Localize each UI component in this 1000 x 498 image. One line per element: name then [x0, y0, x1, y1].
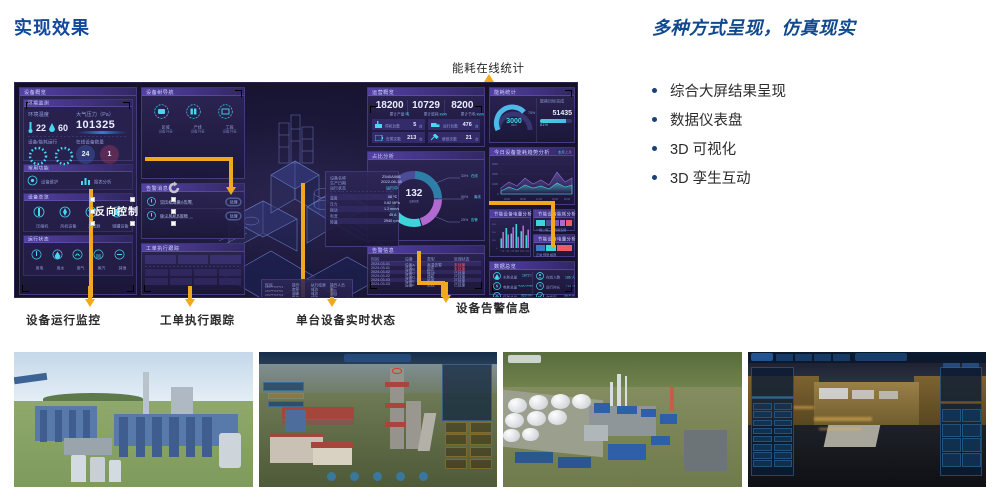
info-card[interactable] [268, 393, 304, 400]
list-item-label: 综合大屏结果呈现 [670, 80, 786, 101]
svg-text:300: 300 [492, 224, 496, 226]
tower-band [385, 403, 409, 408]
nav-tab[interactable] [795, 354, 812, 361]
feature-list: 综合大屏结果呈现 数据仪表盘 3D 可视化 3D 孪生互动 [652, 76, 786, 192]
viewer-toolbar[interactable] [508, 355, 541, 363]
panel-energy-gauge[interactable]: 能耗统计 75% 3000 kW·h [489, 87, 575, 143]
info-card[interactable] [268, 401, 304, 408]
fan-icon [59, 206, 71, 218]
callout-label-realtime-status: 单台设备实时状态 [296, 312, 396, 328]
list-item-label: 数据仪表盘 [670, 109, 743, 130]
clock-icon [536, 282, 544, 290]
window [819, 388, 848, 399]
target-pct: 81% [540, 123, 578, 128]
svg-text:33%: 33% [461, 174, 469, 178]
warning-icon [147, 211, 156, 220]
stat-tile[interactable] [470, 434, 493, 445]
nav-icon[interactable] [419, 472, 428, 481]
svg-text:200: 200 [492, 232, 496, 234]
overview-row[interactable]: 在岗人数186 人 [536, 272, 571, 280]
page-title-bar [855, 353, 907, 361]
kpi-tile[interactable]: 运行台数 476 台 [428, 119, 481, 130]
svg-text:四月: 四月 [515, 249, 519, 253]
svg-text:1000: 1000 [492, 182, 498, 186]
panel-header: 工单执行跟踪 [142, 244, 244, 252]
svg-text:一月: 一月 [500, 249, 504, 253]
pressure-value: 101325 [76, 119, 128, 131]
selection-handle[interactable] [90, 197, 95, 202]
list-item-label: 3D 可视化 [670, 138, 736, 159]
stat-tile[interactable] [445, 434, 468, 445]
svg-text:2000: 2000 [492, 172, 498, 176]
folder-icon [154, 104, 169, 119]
panel-header: 设备树导航 [142, 88, 244, 96]
stat-tile[interactable] [445, 447, 468, 458]
selection-handle[interactable] [171, 221, 176, 226]
info-card[interactable] [263, 382, 304, 391]
column [119, 417, 129, 458]
panel-header: 能耗统计 [490, 88, 574, 96]
image-gallery [14, 352, 986, 487]
svg-text:六月: 六月 [525, 249, 529, 253]
gallery-image-digital-twin-plant[interactable] [259, 352, 498, 487]
list-item: 综合大屏结果呈现 [652, 76, 786, 105]
right-panel-map[interactable] [940, 367, 983, 402]
right-panel[interactable] [442, 364, 492, 421]
status-tile[interactable]: 用气 [72, 247, 83, 269]
nav-tab[interactable] [814, 354, 831, 361]
panel-header: 节能设备电量分析 [490, 210, 530, 218]
truck-icon [431, 121, 440, 128]
column [186, 417, 196, 458]
panel-energy-bar[interactable]: 节能设备电量分析 300 200 100 0 [489, 209, 531, 257]
svg-text:0: 0 [496, 248, 498, 250]
stat-tile[interactable] [470, 459, 493, 470]
svg-text:离线: 离线 [474, 194, 481, 199]
grid-icon [186, 104, 201, 119]
warehouse [64, 438, 112, 454]
overview-row[interactable]: 水耗总量1872 t [493, 272, 528, 280]
nav-tab[interactable] [833, 354, 850, 361]
function-item[interactable]: 设备维护 [27, 175, 76, 186]
selection-handle[interactable] [90, 221, 95, 226]
dashed-gauge-icon [54, 146, 74, 166]
callout-label-order-tracking: 工单执行跟踪 [160, 312, 235, 328]
column [40, 410, 47, 442]
preheater-tower [390, 368, 404, 449]
kpi-tile[interactable]: 停机台数 5 台 [372, 119, 425, 130]
panel-device-detail[interactable]: 设备名称Z540A066 生产日期2022-06-18 运行状态运行中 温度68… [325, 171, 399, 247]
window [852, 390, 873, 399]
rotate-handle-icon[interactable] [167, 181, 181, 200]
summary-value: 18200 [372, 100, 407, 111]
device-tile[interactable]: 压缩机 [33, 205, 45, 227]
warning-icon [147, 197, 156, 206]
water-icon [52, 249, 63, 260]
panel-header: 运行状态 [24, 236, 132, 243]
svg-text:50%: 50% [461, 195, 469, 199]
nav-tab[interactable] [776, 354, 793, 361]
gallery-image-3d-twin-interior[interactable] [748, 352, 987, 487]
callout-label-equipment-monitor: 设备运行监控 [26, 312, 101, 328]
gas-icon [72, 249, 83, 260]
selection-handle[interactable] [130, 221, 135, 226]
filter-button[interactable] [962, 363, 979, 368]
panel-alarm-table[interactable]: 告警信息 时间 设备 类型 处理状态 2024-03-01 设备A 高温告警 未… [367, 245, 485, 295]
svg-text:告警: 告警 [471, 217, 478, 222]
panel-header: 环境监测 [24, 100, 132, 107]
tower-band [385, 422, 409, 427]
tank [219, 433, 240, 468]
section-title-right: 多种方式呈现，仿真现实 [652, 14, 856, 40]
overview-row[interactable]: 合格率98.4 % [536, 292, 571, 298]
area-chart: 3000 2000 1000 0 [492, 158, 574, 202]
wrench-icon [431, 134, 439, 141]
svg-text:在线: 在线 [471, 173, 478, 178]
gauge-value: 3000 [498, 118, 530, 125]
dashboard-canvas: 设备概览 环境监测 环境温度 [14, 82, 578, 298]
valve-icon [33, 206, 45, 218]
nav-icon[interactable] [350, 472, 359, 481]
factory-icon [375, 121, 382, 128]
tank [71, 455, 85, 482]
panel-operation-summary[interactable]: 运营概览 18200 累计产量 吨 10729 累计能耗 kWh [367, 87, 485, 147]
donut-center-value: 132 [393, 188, 435, 199]
bullet-dot-icon [652, 175, 657, 180]
summary-value: 10729 [408, 100, 443, 111]
svg-text:三月: 三月 [510, 249, 514, 253]
roof [270, 433, 322, 437]
status-tile[interactable]: 其他 [114, 247, 125, 269]
bullet-dot-icon [652, 88, 657, 93]
battery-icon [375, 135, 383, 141]
power-icon [31, 249, 42, 260]
svg-text:3000: 3000 [492, 162, 498, 166]
alarm-action-button[interactable]: 处理 [225, 197, 242, 206]
list-item: 数据仪表盘 [652, 105, 786, 134]
count-badge: 1 [100, 145, 119, 164]
tank [90, 457, 104, 481]
status-tile[interactable]: 用水 [52, 247, 63, 269]
tree-tile[interactable]: 工段 设备列表 [218, 104, 233, 132]
callout-label-reverse-control: 反向控制 [95, 203, 139, 218]
dashboard-screenshot: 设备概览 环境监测 环境温度 [14, 82, 578, 298]
building [313, 447, 351, 466]
slide-root: 实现效果 多种方式呈现，仿真现实 综合大屏结果呈现 数据仪表盘 3D 可视化 3… [0, 0, 1000, 498]
bottom-nav[interactable] [321, 471, 435, 482]
gear-icon [27, 175, 38, 186]
column [55, 410, 62, 442]
steam-icon [93, 249, 104, 260]
column [136, 417, 146, 458]
list-item-label: 3D 孪生互动 [670, 167, 751, 188]
panel-header: 数据总览 [490, 262, 574, 270]
tree-tile[interactable]: 产线 设备列表 [186, 104, 201, 132]
target-value: 51435 [540, 110, 572, 117]
people-icon [536, 272, 544, 280]
stat-tile[interactable] [470, 422, 493, 433]
chart-icon [80, 175, 91, 186]
panel-energy-trend[interactable]: 今日设备能耗趋势分析 本月 上月 3000 2000 1000 [489, 147, 575, 205]
monitor-icon [218, 104, 233, 119]
device-tile[interactable]: 风机设备 [59, 205, 71, 227]
list-item: 3D 可视化 [652, 134, 786, 163]
humidity-value: 60 [58, 123, 68, 133]
kpi-tile[interactable]: 维修次数 21 次 [428, 132, 481, 143]
panel-header: 告警信息 [368, 246, 484, 254]
gauge-pct: 75% [528, 111, 536, 115]
humidity-icon [49, 123, 55, 133]
bar-chart: 300 200 100 0 一月 二月 [492, 220, 530, 256]
selection-handle[interactable] [90, 209, 95, 214]
nav-icon[interactable] [373, 472, 382, 481]
page-title: 实现效果 [14, 14, 90, 40]
kpi-tile[interactable]: 告警次数 213 次 [372, 132, 425, 143]
window [879, 391, 898, 399]
stat-tile[interactable] [445, 459, 468, 470]
column [169, 417, 179, 458]
roof [311, 442, 354, 447]
svg-text:0: 0 [497, 192, 499, 196]
svg-text:100: 100 [492, 240, 496, 242]
logo [751, 353, 772, 361]
left-panel-top[interactable] [751, 367, 794, 397]
alarm-action-button[interactable]: 处理 [225, 211, 242, 220]
overview-row[interactable]: 气耗总量920 m³ [493, 292, 528, 298]
alarm-row[interactable]: 除尘风机B故障 2024-03-01 10:04:52 处理 [145, 209, 241, 222]
tank [109, 460, 121, 482]
callout-label-alarm-info: 设备告警信息 [456, 300, 531, 316]
column [152, 417, 162, 458]
stat-tile[interactable] [445, 422, 468, 433]
minus-icon [114, 249, 125, 260]
bullet-dot-icon [652, 117, 657, 122]
equipment [285, 410, 306, 432]
alarm-row[interactable]: 空压机设备A告警 2024-03-01 09:20:15 处理 [145, 195, 241, 209]
check-icon [536, 292, 544, 298]
filter-button[interactable] [943, 363, 960, 368]
hotspot-marker[interactable] [392, 368, 402, 373]
count-badge: 24 [76, 145, 95, 164]
panel-header: 设备总览 [24, 194, 132, 201]
function-item[interactable]: 报表分析 [80, 175, 129, 186]
panel-device-history[interactable]: 时间 操作 执行结果 操作人员 2024-03-01启停成功张三 2024-03… [261, 279, 353, 298]
list-item: 3D 孪生互动 [652, 163, 786, 192]
panel-header: 运营概览 [368, 88, 484, 96]
panel-header: 占比分析 [368, 152, 484, 160]
stat-tile[interactable] [470, 447, 493, 458]
status-tile[interactable]: 用电 [31, 247, 42, 269]
panel-data-overview[interactable]: 数据总览 水耗总量1872 t 电耗总量4560 kWh [489, 261, 575, 295]
svg-text:五月: 五月 [520, 249, 524, 253]
panel-order-tracking[interactable]: 工单执行跟踪 [141, 243, 245, 295]
tree-tile[interactable]: 区域 设备列表 [154, 104, 169, 132]
selection-handle[interactable] [171, 209, 176, 214]
svg-text:二月: 二月 [505, 249, 509, 253]
gallery-image-refinery-aerial[interactable] [503, 352, 742, 487]
panel-header: 今日设备能耗趋势分析 本月 上月 [490, 148, 574, 156]
topbar-title [344, 354, 411, 362]
panel-device-overview[interactable]: 设备概览 环境监测 环境温度 [19, 87, 137, 295]
svg-text:25%: 25% [461, 218, 469, 222]
tower-band [385, 382, 409, 387]
svg-text:20:00: 20:00 [564, 198, 571, 201]
column [202, 417, 212, 458]
nav-icon[interactable] [396, 472, 405, 481]
status-tile[interactable]: 蒸汽 [93, 247, 104, 269]
thermometer-icon [28, 122, 33, 133]
selection-handle[interactable] [130, 197, 135, 202]
gas-flame-icon [493, 292, 501, 298]
panel-header: 设备概览 [20, 88, 136, 96]
temperature-value: 22 [36, 123, 46, 133]
nav-icon[interactable] [327, 472, 336, 481]
bullet-dot-icon [652, 146, 657, 151]
sky [14, 352, 253, 401]
water-drop-icon [493, 272, 501, 280]
dashed-gauge-icon [28, 146, 48, 166]
gallery-image-large-screen[interactable] [14, 352, 253, 487]
legend-item[interactable]: 上月 [565, 149, 572, 155]
